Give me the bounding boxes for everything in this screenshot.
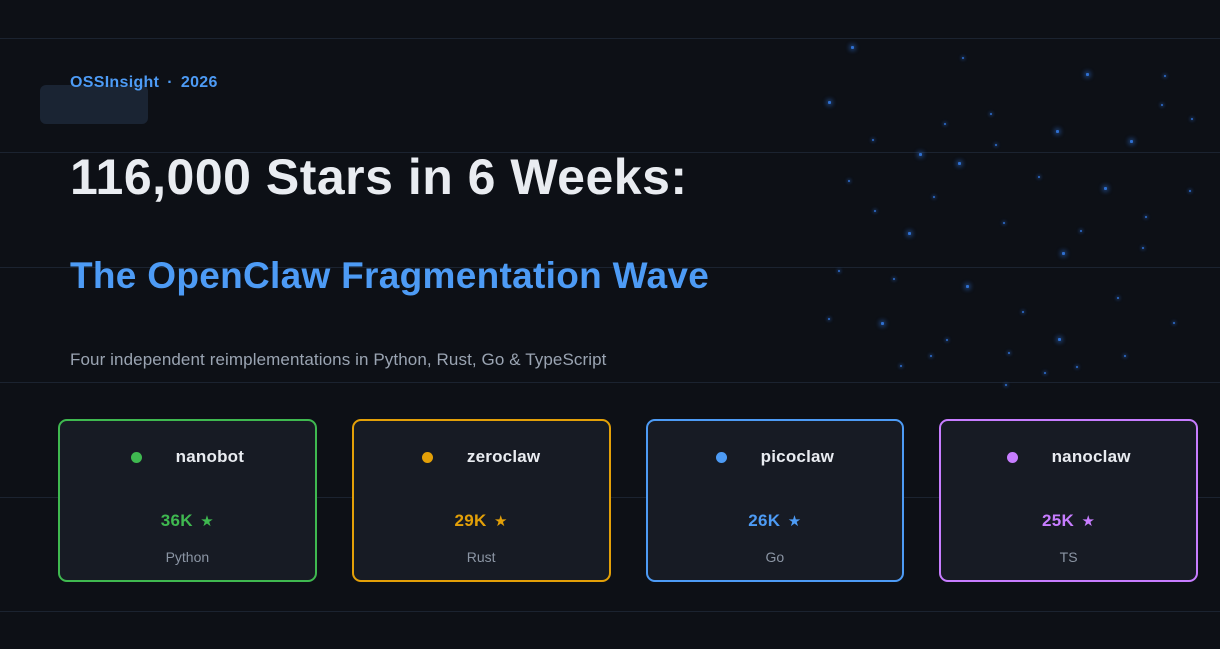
star-count-value: 29K [454, 511, 486, 530]
promo-graphic-canvas: OSSInsight·2026 116,000 Stars in 6 Weeks… [0, 0, 1220, 649]
star-particle-12 [1104, 187, 1107, 190]
star-particle-3 [1164, 75, 1166, 77]
page-subtitle: The OpenClaw Fragmentation Wave [70, 257, 709, 294]
grid-line-5 [0, 611, 1220, 612]
star-particle-41 [1130, 140, 1133, 143]
grid-line-3 [0, 382, 1220, 383]
project-language-label: Rust [354, 549, 609, 565]
project-name-label: nanoclaw [1052, 447, 1131, 467]
project-star-count: 36K ★ [60, 511, 315, 531]
project-name-label: zeroclaw [467, 447, 540, 467]
status-dot-nanoclaw-icon [1007, 452, 1018, 463]
star-particle-43 [1080, 230, 1082, 232]
brand-label: OSSInsight [70, 74, 159, 91]
star-icon: ★ [487, 513, 508, 530]
project-card-row: nanobot36K ★Pythonzeroclaw29K ★Rustpicoc… [58, 419, 1198, 582]
star-particle-11 [958, 162, 961, 165]
star-particle-9 [874, 210, 876, 212]
star-particle-39 [1044, 372, 1046, 374]
project-card-header: picoclaw [648, 447, 903, 467]
project-language-label: Python [60, 549, 315, 565]
star-particle-8 [1161, 104, 1163, 106]
star-count-value: 36K [161, 511, 193, 530]
star-particle-5 [944, 123, 946, 125]
star-particle-13 [1038, 176, 1040, 178]
star-particle-1 [962, 57, 964, 59]
star-particle-42 [933, 196, 935, 198]
star-particle-16 [1003, 222, 1005, 224]
status-dot-zeroclaw-icon [422, 452, 433, 463]
star-particle-21 [828, 318, 830, 320]
brand-kicker: OSSInsight·2026 [70, 74, 218, 92]
star-particle-31 [1173, 322, 1175, 324]
star-particle-28 [1076, 366, 1078, 368]
project-card-nanoclaw[interactable]: nanoclaw25K ★TS [939, 419, 1198, 582]
star-particle-24 [1008, 352, 1010, 354]
kicker-separator: · [159, 74, 181, 91]
status-dot-picoclaw-icon [716, 452, 727, 463]
star-particle-2 [1086, 73, 1089, 76]
star-particle-35 [1124, 355, 1126, 357]
star-count-value: 25K [1042, 511, 1074, 530]
star-icon: ★ [1074, 513, 1095, 530]
star-particle-7 [1056, 130, 1059, 133]
star-count-value: 26K [748, 511, 780, 530]
star-particle-29 [1005, 384, 1007, 386]
project-language-label: TS [941, 549, 1196, 565]
star-particle-30 [1189, 190, 1191, 192]
project-card-header: nanoclaw [941, 447, 1196, 467]
star-particle-0 [851, 46, 854, 49]
star-particle-37 [995, 144, 997, 146]
star-particle-22 [881, 322, 884, 325]
star-particle-19 [1022, 311, 1024, 313]
project-card-header: nanobot [60, 447, 315, 467]
star-particle-6 [990, 113, 992, 115]
project-star-count: 29K ★ [354, 511, 609, 531]
project-star-count: 25K ★ [941, 511, 1196, 531]
status-dot-nanobot-icon [131, 452, 142, 463]
star-particle-38 [1191, 118, 1193, 120]
star-particle-23 [946, 339, 948, 341]
star-icon: ★ [780, 513, 801, 530]
project-card-picoclaw[interactable]: picoclaw26K ★Go [646, 419, 905, 582]
page-tagline: Four independent reimplementations in Py… [70, 350, 607, 370]
project-star-count: 26K ★ [648, 511, 903, 531]
year-label: 2026 [181, 74, 218, 91]
star-particle-32 [838, 270, 840, 272]
star-particle-15 [908, 232, 911, 235]
star-particle-40 [872, 139, 874, 141]
star-icon: ★ [193, 513, 214, 530]
page-title: 116,000 Stars in 6 Weeks: [70, 152, 688, 202]
project-card-nanobot[interactable]: nanobot36K ★Python [58, 419, 317, 582]
project-language-label: Go [648, 549, 903, 565]
star-particle-20 [1117, 297, 1119, 299]
star-particle-25 [1058, 338, 1061, 341]
project-name-label: picoclaw [761, 447, 834, 467]
star-particle-26 [900, 365, 902, 367]
star-particle-14 [1145, 216, 1147, 218]
project-card-header: zeroclaw [354, 447, 609, 467]
star-particle-17 [1142, 247, 1144, 249]
star-particle-4 [828, 101, 831, 104]
grid-line-0 [0, 38, 1220, 39]
project-name-label: nanobot [176, 447, 244, 467]
star-particle-36 [848, 180, 850, 182]
star-particle-33 [893, 278, 895, 280]
star-particle-27 [930, 355, 932, 357]
project-card-zeroclaw[interactable]: zeroclaw29K ★Rust [352, 419, 611, 582]
star-particle-18 [966, 285, 969, 288]
star-particle-34 [1062, 252, 1065, 255]
star-particle-10 [919, 153, 922, 156]
